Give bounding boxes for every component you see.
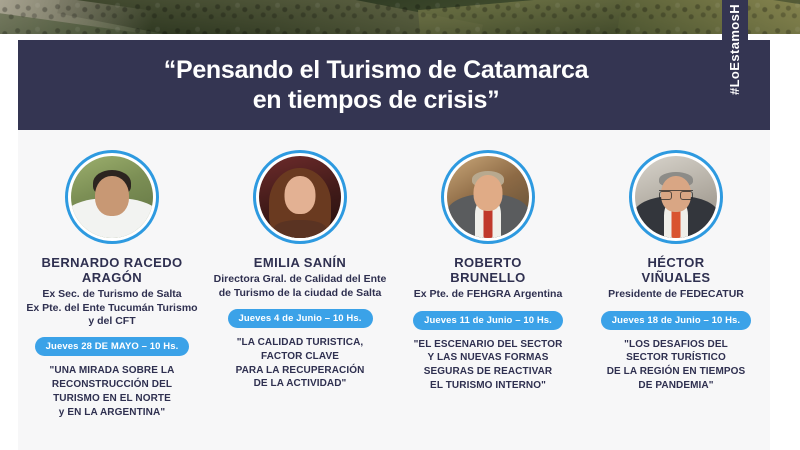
page-title: “Pensando el Turismo de Catamarca en tie…: [164, 55, 625, 116]
date-badge[interactable]: Jueves 28 DE MAYO – 10 Hs.: [35, 337, 190, 356]
speaker-card[interactable]: ROBERTO BRUNELLO Ex Pte. de FEHGRA Argen…: [399, 150, 577, 393]
date-badge[interactable]: Jueves 18 de Junio – 10 Hs.: [601, 311, 751, 330]
glasses-icon: [659, 190, 693, 199]
speaker-name: EMILIA SANÍN: [254, 255, 346, 270]
header-landscape-photo: [0, 0, 800, 34]
talk-title: "LOS DESAFIOS DEL SECTOR TURÍSTICO DE LA…: [607, 338, 746, 393]
speaker-card[interactable]: EMILIA SANÍN Directora Gral. de Calidad …: [211, 150, 389, 391]
speaker-role: Directora Gral. de Calidad del Ente de T…: [214, 273, 387, 300]
speakers-grid: BERNARDO RACEDO ARAGÓN Ex Sec. de Turism…: [18, 150, 770, 420]
portrait-emilia-sanin: [259, 156, 341, 238]
avatar: [65, 150, 159, 244]
speaker-role: Ex Pte. de FEHGRA Argentina: [414, 288, 563, 301]
avatar-face: [474, 175, 503, 211]
portrait-hector-vinuales: [635, 156, 717, 238]
avatar: [441, 150, 535, 244]
avatar-face: [285, 176, 316, 214]
date-badge[interactable]: Jueves 11 de Junio – 10 Hs.: [413, 311, 563, 330]
talk-title: "LA CALIDAD TURISTICA, FACTOR CLAVE PARA…: [236, 336, 365, 391]
avatar: [253, 150, 347, 244]
hashtag-strip: #LoEstamosH: [722, 0, 748, 114]
speaker-role: Ex Sec. de Turismo de Salta Ex Pte. del …: [26, 288, 197, 328]
talk-title: "EL ESCENARIO DEL SECTOR Y LAS NUEVAS FO…: [414, 338, 563, 393]
portrait-roberto-brunello: [447, 156, 529, 238]
speaker-name: ROBERTO BRUNELLO: [450, 255, 525, 285]
avatar-face: [95, 176, 129, 216]
talk-title: "UNA MIRADA SOBRE LA RECONSTRUCCIÓN DEL …: [50, 364, 175, 419]
title-banner: “Pensando el Turismo de Catamarca en tie…: [18, 40, 770, 130]
hashtag-label: #LoEstamosH: [728, 3, 743, 94]
speaker-card[interactable]: BERNARDO RACEDO ARAGÓN Ex Sec. de Turism…: [23, 150, 201, 420]
date-badge[interactable]: Jueves 4 de Junio – 10 Hs.: [228, 309, 373, 328]
portrait-bernardo-racedo-aragon: [71, 156, 153, 238]
speaker-name: HÉCTOR VIÑUALES: [642, 255, 711, 285]
photo-foliage-texture: [0, 0, 800, 34]
avatar-shoulders: [274, 220, 326, 238]
avatar: [629, 150, 723, 244]
speaker-card[interactable]: HÉCTOR VIÑUALES Presidente de FEDECATUR …: [587, 150, 765, 393]
speaker-role: Presidente de FEDECATUR: [608, 288, 744, 301]
speaker-name: BERNARDO RACEDO ARAGÓN: [41, 255, 182, 285]
